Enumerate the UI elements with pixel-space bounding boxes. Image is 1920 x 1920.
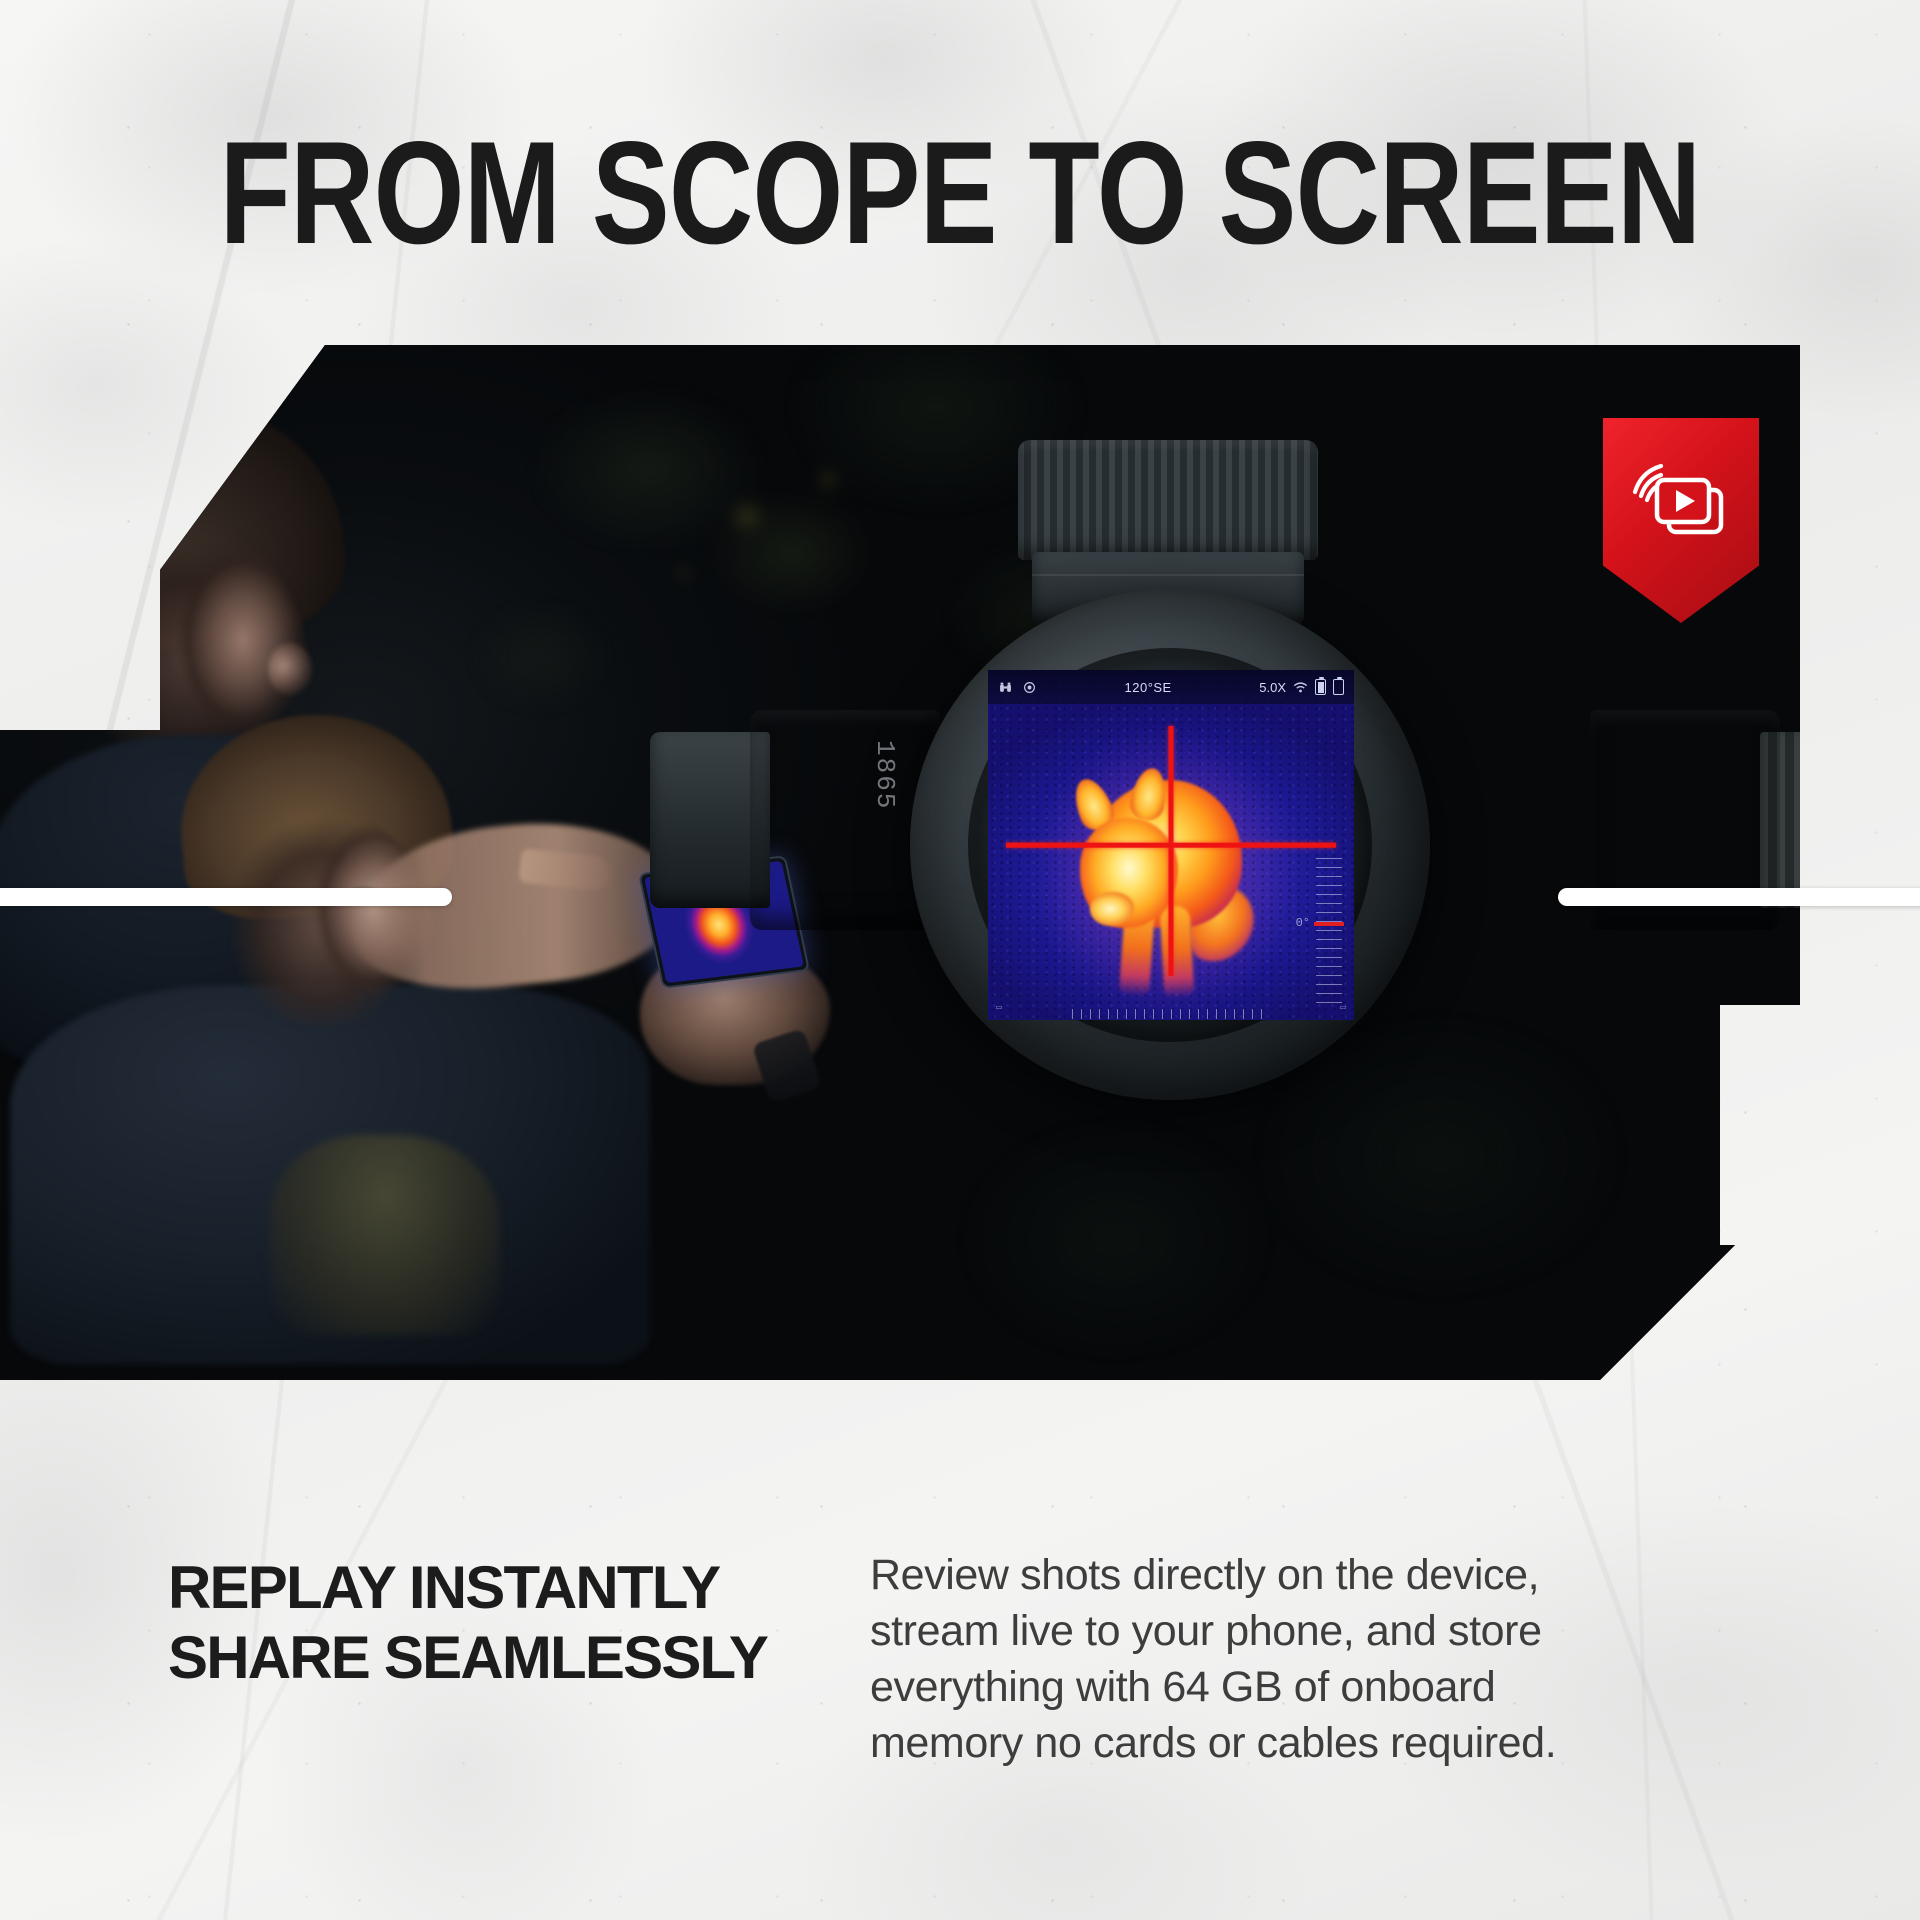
hud-zoom-readout: 5.0X	[1259, 680, 1286, 695]
elevation-marker	[1314, 922, 1344, 926]
reticle-vertical-line	[1169, 726, 1174, 976]
body-line-4: memory no cards or cables required.	[870, 1716, 1600, 1772]
sd-card-icon	[1333, 679, 1344, 695]
display-corner-left-icon: ▭	[996, 1002, 1002, 1014]
collage-clip-inner: 1865	[0, 345, 1800, 1385]
windage-ruler	[1072, 1009, 1270, 1019]
reticle-horizontal-line	[1006, 843, 1336, 848]
binocular-icon[interactable]	[998, 681, 1013, 694]
feature-description: Review shots directly on the device, str…	[870, 1548, 1600, 1772]
man-nose	[268, 643, 312, 695]
elevation-label: 0°	[1296, 916, 1310, 930]
animal-leg	[1160, 905, 1195, 998]
hud-left-group	[998, 681, 1037, 694]
wifi-icon[interactable]	[1293, 681, 1308, 694]
scope-elevation-turret[interactable]	[1018, 440, 1318, 560]
subheading-line-1: REPLAY INSTANTLY	[168, 1553, 767, 1623]
scope-hud-bar: 120°SE 5.0X	[988, 670, 1354, 704]
boy-shirt	[270, 1135, 500, 1335]
scope-model-code: 1865	[870, 740, 900, 810]
body-line-3: everything with 64 GB of onboard	[870, 1660, 1600, 1716]
accent-bar-left	[0, 888, 452, 906]
thermal-display-screen[interactable]: 120°SE 5.0X	[988, 670, 1354, 1020]
accent-bar-right	[1558, 888, 1920, 906]
feature-subheading: REPLAY INSTANTLY SHARE SEAMLESSLY	[168, 1553, 767, 1692]
display-corner-right-icon: ▭	[1340, 1002, 1346, 1014]
page-title: FROM SCOPE TO SCREEN	[192, 120, 1728, 266]
subheading-line-2: SHARE SEAMLESSLY	[168, 1623, 767, 1693]
photo-subject-boy	[120, 715, 680, 1315]
wireless-video-stream-icon	[1629, 456, 1733, 548]
hud-right-group: 5.0X	[1259, 679, 1344, 695]
elevation-ruler	[1316, 858, 1342, 1008]
body-line-2: stream live to your phone, and store	[870, 1604, 1600, 1660]
hud-heading-readout: 120°SE	[1037, 680, 1259, 695]
body-line-1: Review shots directly on the device,	[870, 1548, 1600, 1604]
hero-image-collage: 1865	[0, 345, 1800, 1385]
palette-icon[interactable]	[1022, 681, 1037, 694]
battery-icon	[1315, 679, 1326, 695]
poster-canvas: FROM SCOPE TO SCREEN	[0, 0, 1920, 1920]
